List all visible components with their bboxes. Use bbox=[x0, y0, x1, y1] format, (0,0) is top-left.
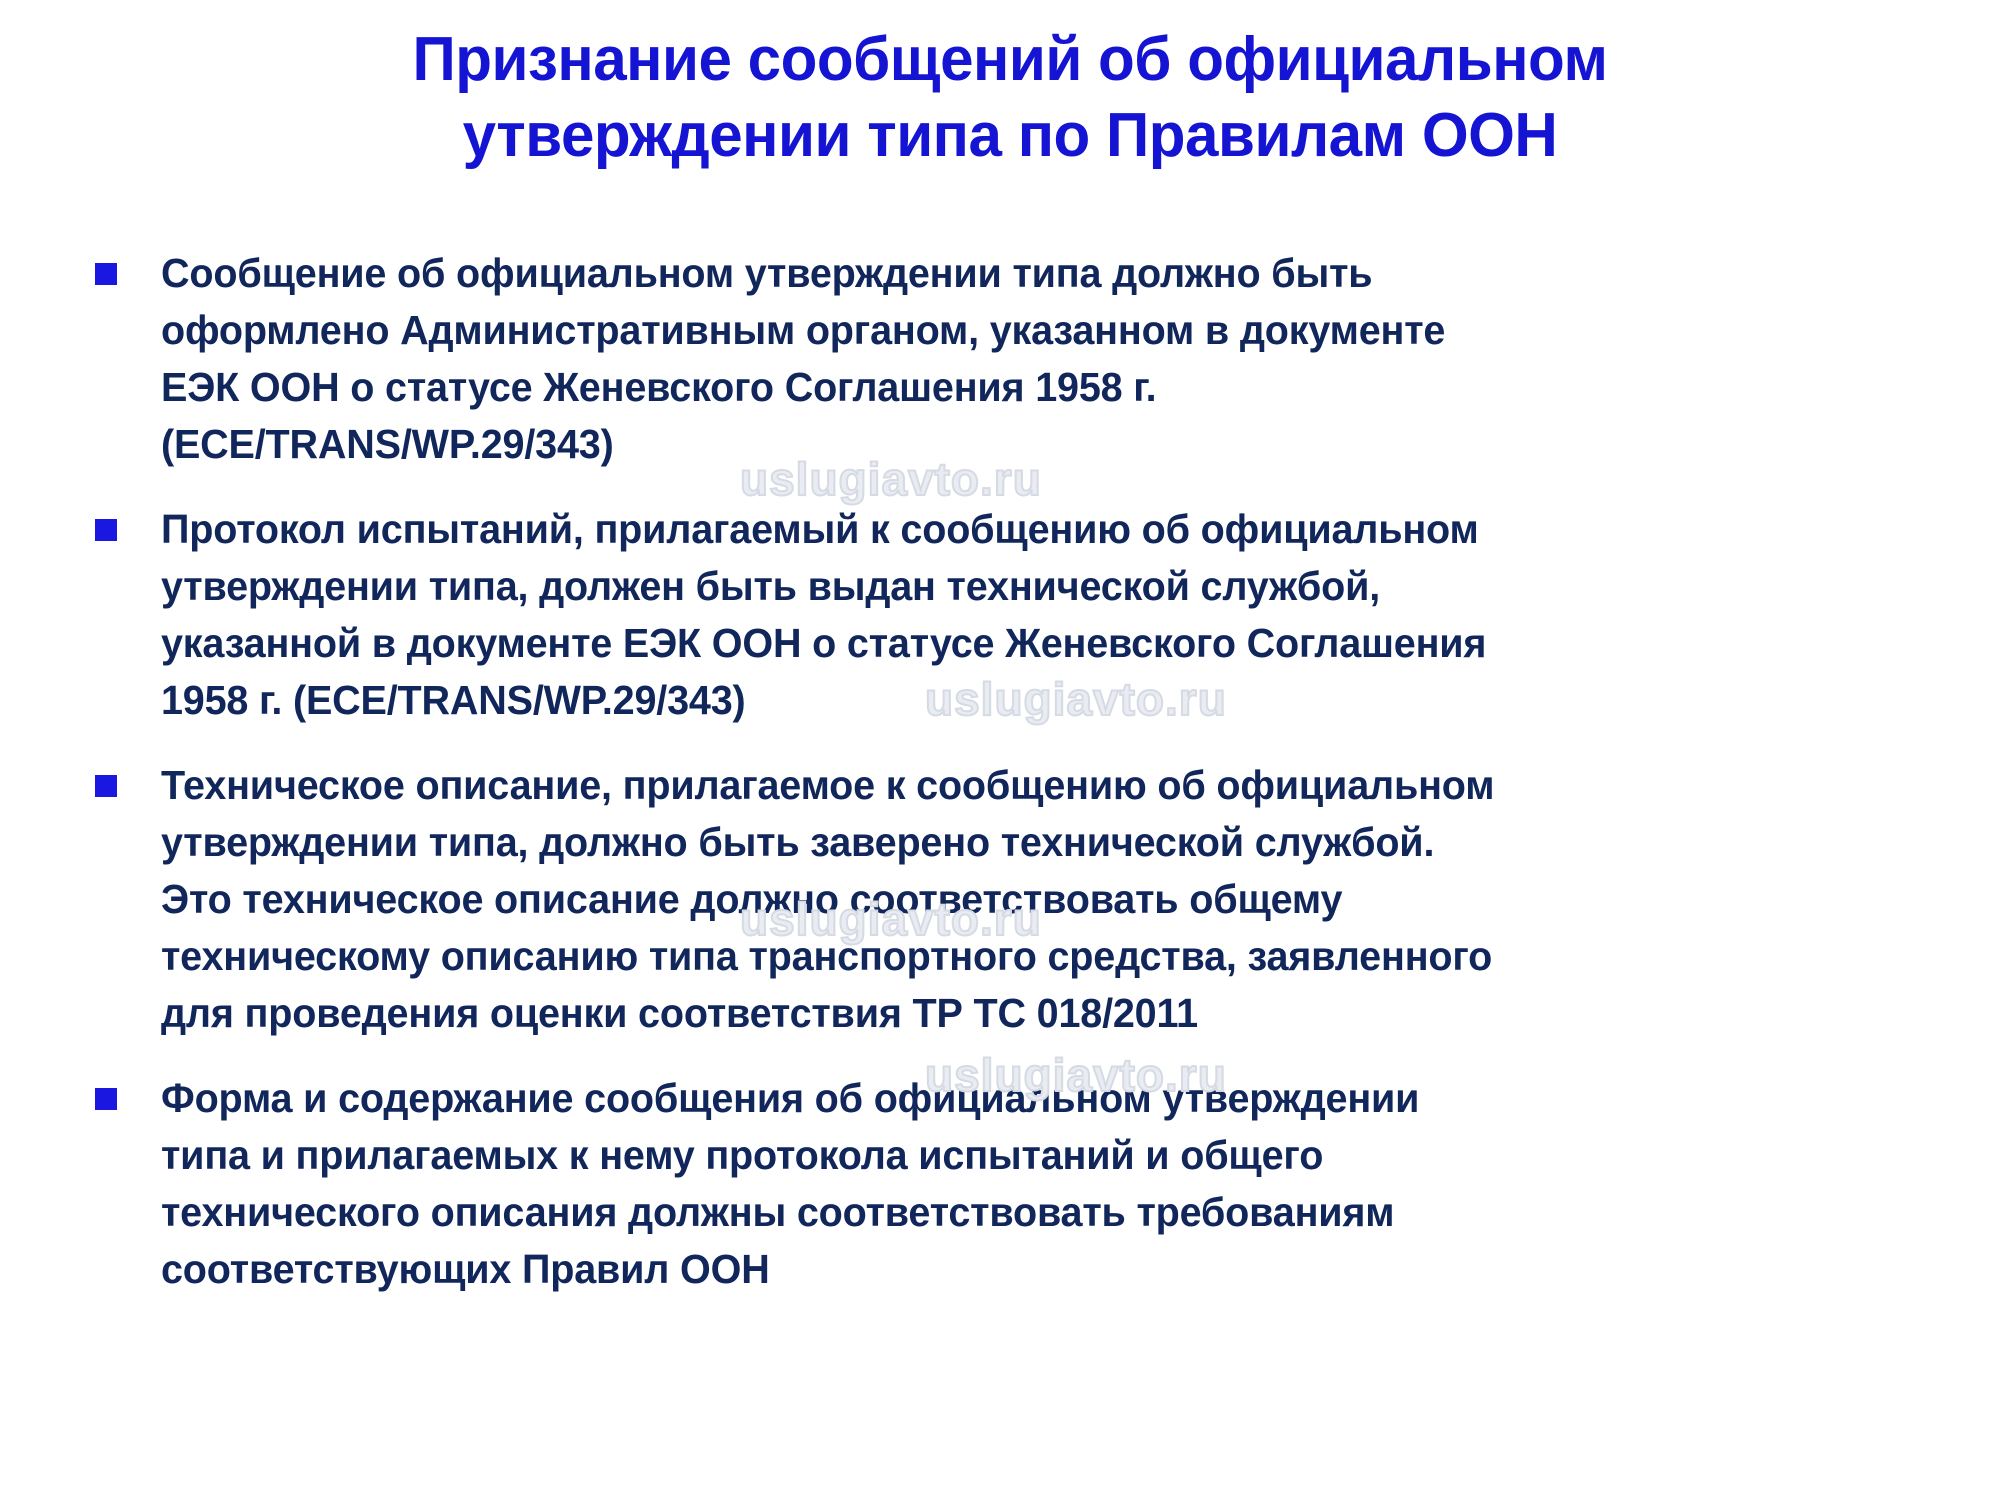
bullet-4-line-4: соответствующих Правил ООН bbox=[161, 1241, 1863, 1298]
bullet-2-line-2: утверждении типа, должен быть выдан техн… bbox=[161, 558, 1863, 615]
bullet-text-1: Сообщение об официальном утверждении тип… bbox=[161, 245, 1863, 473]
bullet-3-line-4: техническому описанию типа транспортного… bbox=[161, 928, 1863, 985]
bullet-text-4: Форма и содержание сообщения об официаль… bbox=[161, 1070, 1863, 1298]
bullet-3-line-1: Техническое описание, прилагаемое к сооб… bbox=[161, 757, 1863, 814]
bullet-item-3: Техническое описание, прилагаемое к сооб… bbox=[95, 757, 1925, 1042]
bullet-1-line-2: оформлено Административным органом, указ… bbox=[161, 302, 1863, 359]
bullet-4-line-3: технического описания должны соответство… bbox=[161, 1184, 1863, 1241]
bullet-list: Сообщение об официальном утверждении тип… bbox=[95, 245, 1925, 1326]
bullet-3-line-2: утверждении типа, должно быть заверено т… bbox=[161, 814, 1863, 871]
bullet-1-line-3: ЕЭК ООН о статусе Женевского Соглашения … bbox=[161, 359, 1863, 416]
bullet-4-line-2: типа и прилагаемых к нему протокола испы… bbox=[161, 1127, 1863, 1184]
bullet-text-3: Техническое описание, прилагаемое к сооб… bbox=[161, 757, 1863, 1042]
bullet-1-line-4: (ECE/TRANS/WP.29/343) bbox=[161, 416, 1863, 473]
bullet-item-2: Протокол испытаний, прилагаемый к сообще… bbox=[95, 501, 1925, 729]
bullet-text-2: Протокол испытаний, прилагаемый к сообще… bbox=[161, 501, 1863, 729]
bullet-item-1: Сообщение об официальном утверждении тип… bbox=[95, 245, 1925, 473]
square-bullet-icon bbox=[95, 519, 117, 541]
bullet-4-line-1: Форма и содержание сообщения об официаль… bbox=[161, 1070, 1863, 1127]
square-bullet-icon bbox=[95, 263, 117, 285]
bullet-3-line-5: для проведения оценки соответствия ТР ТС… bbox=[161, 985, 1863, 1042]
bullet-1-line-1: Сообщение об официальном утверждении тип… bbox=[161, 245, 1863, 302]
bullet-3-line-3: Это техническое описание должно соответс… bbox=[161, 871, 1863, 928]
bullet-item-4: Форма и содержание сообщения об официаль… bbox=[95, 1070, 1925, 1298]
square-bullet-icon bbox=[95, 1088, 117, 1110]
square-bullet-icon bbox=[95, 775, 117, 797]
slide-title-line-2: утверждении типа по Правилам ООН bbox=[176, 98, 1844, 174]
bullet-2-line-3: указанной в документе ЕЭК ООН о статусе … bbox=[161, 615, 1863, 672]
slide-canvas: Признание сообщений об официальном утвер… bbox=[0, 0, 2000, 1500]
bullet-2-line-1: Протокол испытаний, прилагаемый к сообще… bbox=[161, 501, 1863, 558]
slide-title: Признание сообщений об официальном утвер… bbox=[150, 22, 1870, 174]
slide-title-line-1: Признание сообщений об официальном bbox=[176, 22, 1844, 98]
bullet-2-line-4: 1958 г. (ECE/TRANS/WP.29/343) bbox=[161, 672, 1863, 729]
